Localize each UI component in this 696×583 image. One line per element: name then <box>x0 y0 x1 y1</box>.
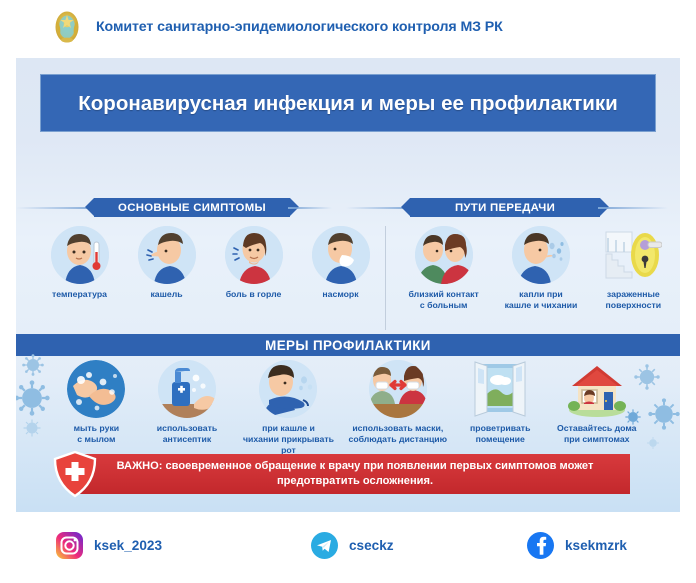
prevention-tile: проветривать помещение <box>456 360 545 456</box>
prevention-label: мыть руки с мылом <box>74 423 120 445</box>
symptom-label: кашель <box>150 289 182 300</box>
org-header: Комитет санитарно-эпидемиологического ко… <box>0 0 696 54</box>
transmission-tile: близкий контакт с больным <box>396 226 491 311</box>
ventilate-room-icon <box>471 360 529 418</box>
transmission-heading-ribbon: ПУТИ ПЕРЕДАЧИ <box>346 198 680 217</box>
virus-decoration-icon <box>646 436 660 455</box>
prevention-label: при кашле и чихании прикрывать рот <box>243 423 334 456</box>
virus-decoration-icon <box>634 364 660 395</box>
droplets-cough-sneeze-icon <box>512 226 570 284</box>
prevention-label: использовать антисептик <box>157 423 217 445</box>
poster-title: Коронавирусная инфекция и меры ее профил… <box>40 74 656 132</box>
instagram-icon[interactable] <box>56 532 83 559</box>
prevention-tile: использовать маски, соблюдать дистанцию <box>343 360 453 456</box>
org-title: Комитет санитарно-эпидемиологического ко… <box>96 19 503 35</box>
prevention-tile: при кашле и чихании прикрывать рот <box>237 360 339 456</box>
social-link-instagram[interactable]: ksek_2023 <box>56 532 162 559</box>
telegram-icon[interactable] <box>311 532 338 559</box>
infographic-panel: Коронавирусная инфекция и меры ее профил… <box>16 58 680 512</box>
sore-throat-icon <box>225 226 283 284</box>
virus-decoration-icon <box>22 418 42 443</box>
prevention-tiles: мыть руки с мылом <box>56 360 646 456</box>
virus-decoration-icon <box>624 408 642 431</box>
kazakhstan-state-emblem <box>52 7 82 47</box>
social-footer: ksek_2023 cseckz ksekmzrk <box>0 524 696 570</box>
symptom-label: боль в горле <box>226 289 282 300</box>
symptom-tile: насморк <box>299 226 382 300</box>
virus-decoration-icon <box>648 398 680 435</box>
symptom-tile: кашель <box>125 226 208 300</box>
symptom-tile: температура <box>38 226 121 300</box>
instagram-handle[interactable]: ksek_2023 <box>94 538 162 553</box>
symptom-label: насморк <box>322 289 358 300</box>
prevention-label: проветривать помещение <box>470 423 530 445</box>
section-divider <box>385 226 386 330</box>
symptom-label: температура <box>52 289 107 300</box>
prevention-tile: мыть руки с мылом <box>56 360 137 456</box>
telegram-handle[interactable]: cseckz <box>349 538 394 553</box>
social-link-telegram[interactable]: cseckz <box>311 532 394 559</box>
cover-mouth-icon <box>259 360 317 418</box>
symptom-tile: боль в горле <box>212 226 295 300</box>
hand-sanitizer-icon <box>158 360 216 418</box>
transmission-tile: капли при кашле и чихании <box>493 226 588 311</box>
virus-decoration-icon <box>16 380 50 421</box>
stay-home-icon <box>568 360 626 418</box>
red-shield-cross-icon <box>52 450 98 498</box>
runny-nose-icon <box>312 226 370 284</box>
wash-hands-icon <box>67 360 125 418</box>
facebook-handle[interactable]: ksekmzrk <box>565 538 627 553</box>
masks-distance-icon <box>369 360 427 418</box>
prevention-tile: использовать антисептик <box>140 360 235 456</box>
symptoms-heading: ОСНОВНЫЕ СИМПТОМЫ <box>118 202 266 214</box>
contaminated-surfaces-icon <box>604 226 662 284</box>
cough-icon <box>138 226 196 284</box>
close-contact-icon <box>415 226 473 284</box>
symptoms-heading-ribbon: ОСНОВНЫЕ СИМПТОМЫ <box>16 198 332 217</box>
transmission-label: зараженные поверхности <box>606 289 662 311</box>
transmission-tiles: близкий контакт с больным <box>396 226 676 311</box>
transmission-tile: зараженные поверхности <box>591 226 676 311</box>
transmission-label: капли при кашле и чихании <box>505 289 578 311</box>
prevention-heading: МЕРЫ ПРОФИЛАКТИКИ <box>16 334 680 356</box>
symptoms-tiles: температура кашель <box>38 226 382 300</box>
social-link-facebook[interactable]: ksekmzrk <box>527 532 627 559</box>
transmission-label: близкий контакт с больным <box>409 289 479 311</box>
transmission-heading: ПУТИ ПЕРЕДАЧИ <box>455 202 555 214</box>
poster-page: Комитет санитарно-эпидемиологического ко… <box>0 0 696 583</box>
fever-thermometer-icon <box>51 226 109 284</box>
prevention-label: использовать маски, соблюдать дистанцию <box>348 423 447 445</box>
important-text: ВАЖНО: своевременное обращение к врачу п… <box>70 459 630 489</box>
virus-decoration-icon <box>22 354 44 381</box>
facebook-icon[interactable] <box>527 532 554 559</box>
important-notice: ВАЖНО: своевременное обращение к врачу п… <box>70 454 630 494</box>
